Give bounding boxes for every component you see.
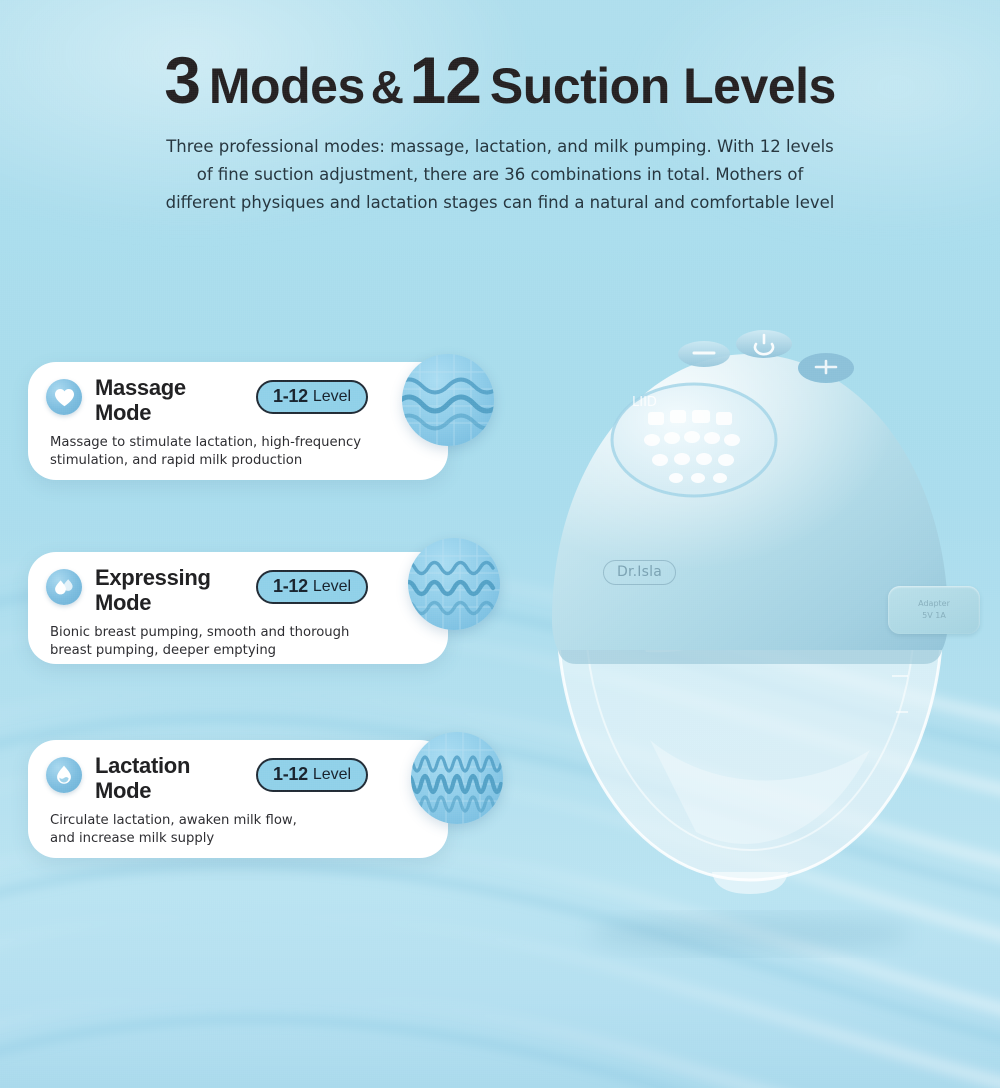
level-badge-range: 1-12 [273,576,308,597]
page-title: 3Modes&12Suction Levels [0,46,1000,115]
mode-desc-line2: stimulation, and rapid milk production [50,452,298,471]
level-badge-label: Level [313,388,351,406]
mode-description: Massage to stimulate lactation, high-fre… [28,426,448,471]
level-badge-label: Level [313,766,351,784]
mode-desc-line2: and increase milk supply [50,830,298,849]
mode-card-expressing[interactable]: Expressing Mode 1-12 Level Bionic breast… [28,552,448,664]
double-droplet-icon [46,569,82,605]
mode-desc-line1: Massage to stimulate lactation, high-fre… [50,434,298,453]
svg-text:LIID: LIID [632,395,657,410]
level-badge-label: Level [313,578,351,596]
card-header: Massage Mode 1-12 Level [28,362,448,426]
card-header: Lactation Mode 1-12 Level [28,740,448,804]
adapter-label-line2: 5V 1A [922,610,946,622]
subtitle-line-3: different physiques and lactation stages… [140,189,860,217]
mode-desc-line1: Circulate lactation, awaken milk flow, [50,812,298,831]
title-levels-count: 12 [410,43,481,117]
product-image-breast-pump: LIID Dr.Isla Adapter 5V 1A [500,320,1000,960]
level-badge-range: 1-12 [273,764,308,785]
mode-title: Expressing Mode [95,566,211,616]
plus-button [798,353,854,383]
mode-title-line2: Mode [95,400,151,425]
mode-description: Circulate lactation, awaken milk flow, a… [28,804,448,849]
power-button [736,330,792,358]
card-header: Expressing Mode 1-12 Level [28,552,448,616]
level-badge: 1-12 Level [256,380,368,414]
mode-card-massage[interactable]: Massage Mode 1-12 Level Massage to stimu… [28,362,448,480]
title-modes-count: 3 [164,43,200,117]
mode-title-line1: Massage [95,375,186,400]
mode-title: Massage Mode [95,376,186,426]
mode-title: Lactation Mode [95,754,190,804]
minus-button [678,341,730,367]
level-badge: 1-12 Level [256,570,368,604]
subtitle-line-2: of fine suction adjustment, there are 36… [140,161,860,189]
mode-desc-line1: Bionic breast pumping, smooth and thorou… [50,624,298,643]
level-badge-range: 1-12 [273,386,308,407]
mode-title-line2: Mode [95,590,151,615]
mode-title-line1: Lactation [95,753,190,778]
adapter-label-line1: Adapter [918,598,950,610]
title-levels-word: Suction Levels [490,58,836,114]
droplet-outline-icon [46,757,82,793]
page-subtitle: Three professional modes: massage, lacta… [140,133,860,218]
heart-icon [46,379,82,415]
header: 3Modes&12Suction Levels Three profession… [0,46,1000,218]
brand-logo: Dr.Isla [603,560,676,585]
subtitle-line-1: Three professional modes: massage, lacta… [140,133,860,161]
title-modes-word: Modes [209,58,365,114]
mode-card-lactation[interactable]: Lactation Mode 1-12 Level Circulate lact… [28,740,448,858]
adapter-label: Adapter 5V 1A [888,586,980,634]
mode-description: Bionic breast pumping, smooth and thorou… [28,616,448,661]
mode-title-line1: Expressing [95,565,211,590]
title-ampersand: & [365,61,410,113]
infographic-page: 3Modes&12Suction Levels Three profession… [0,0,1000,1088]
mode-desc-line2: breast pumping, deeper emptying [50,642,298,661]
mode-title-line2: Mode [95,778,151,803]
level-badge: 1-12 Level [256,758,368,792]
